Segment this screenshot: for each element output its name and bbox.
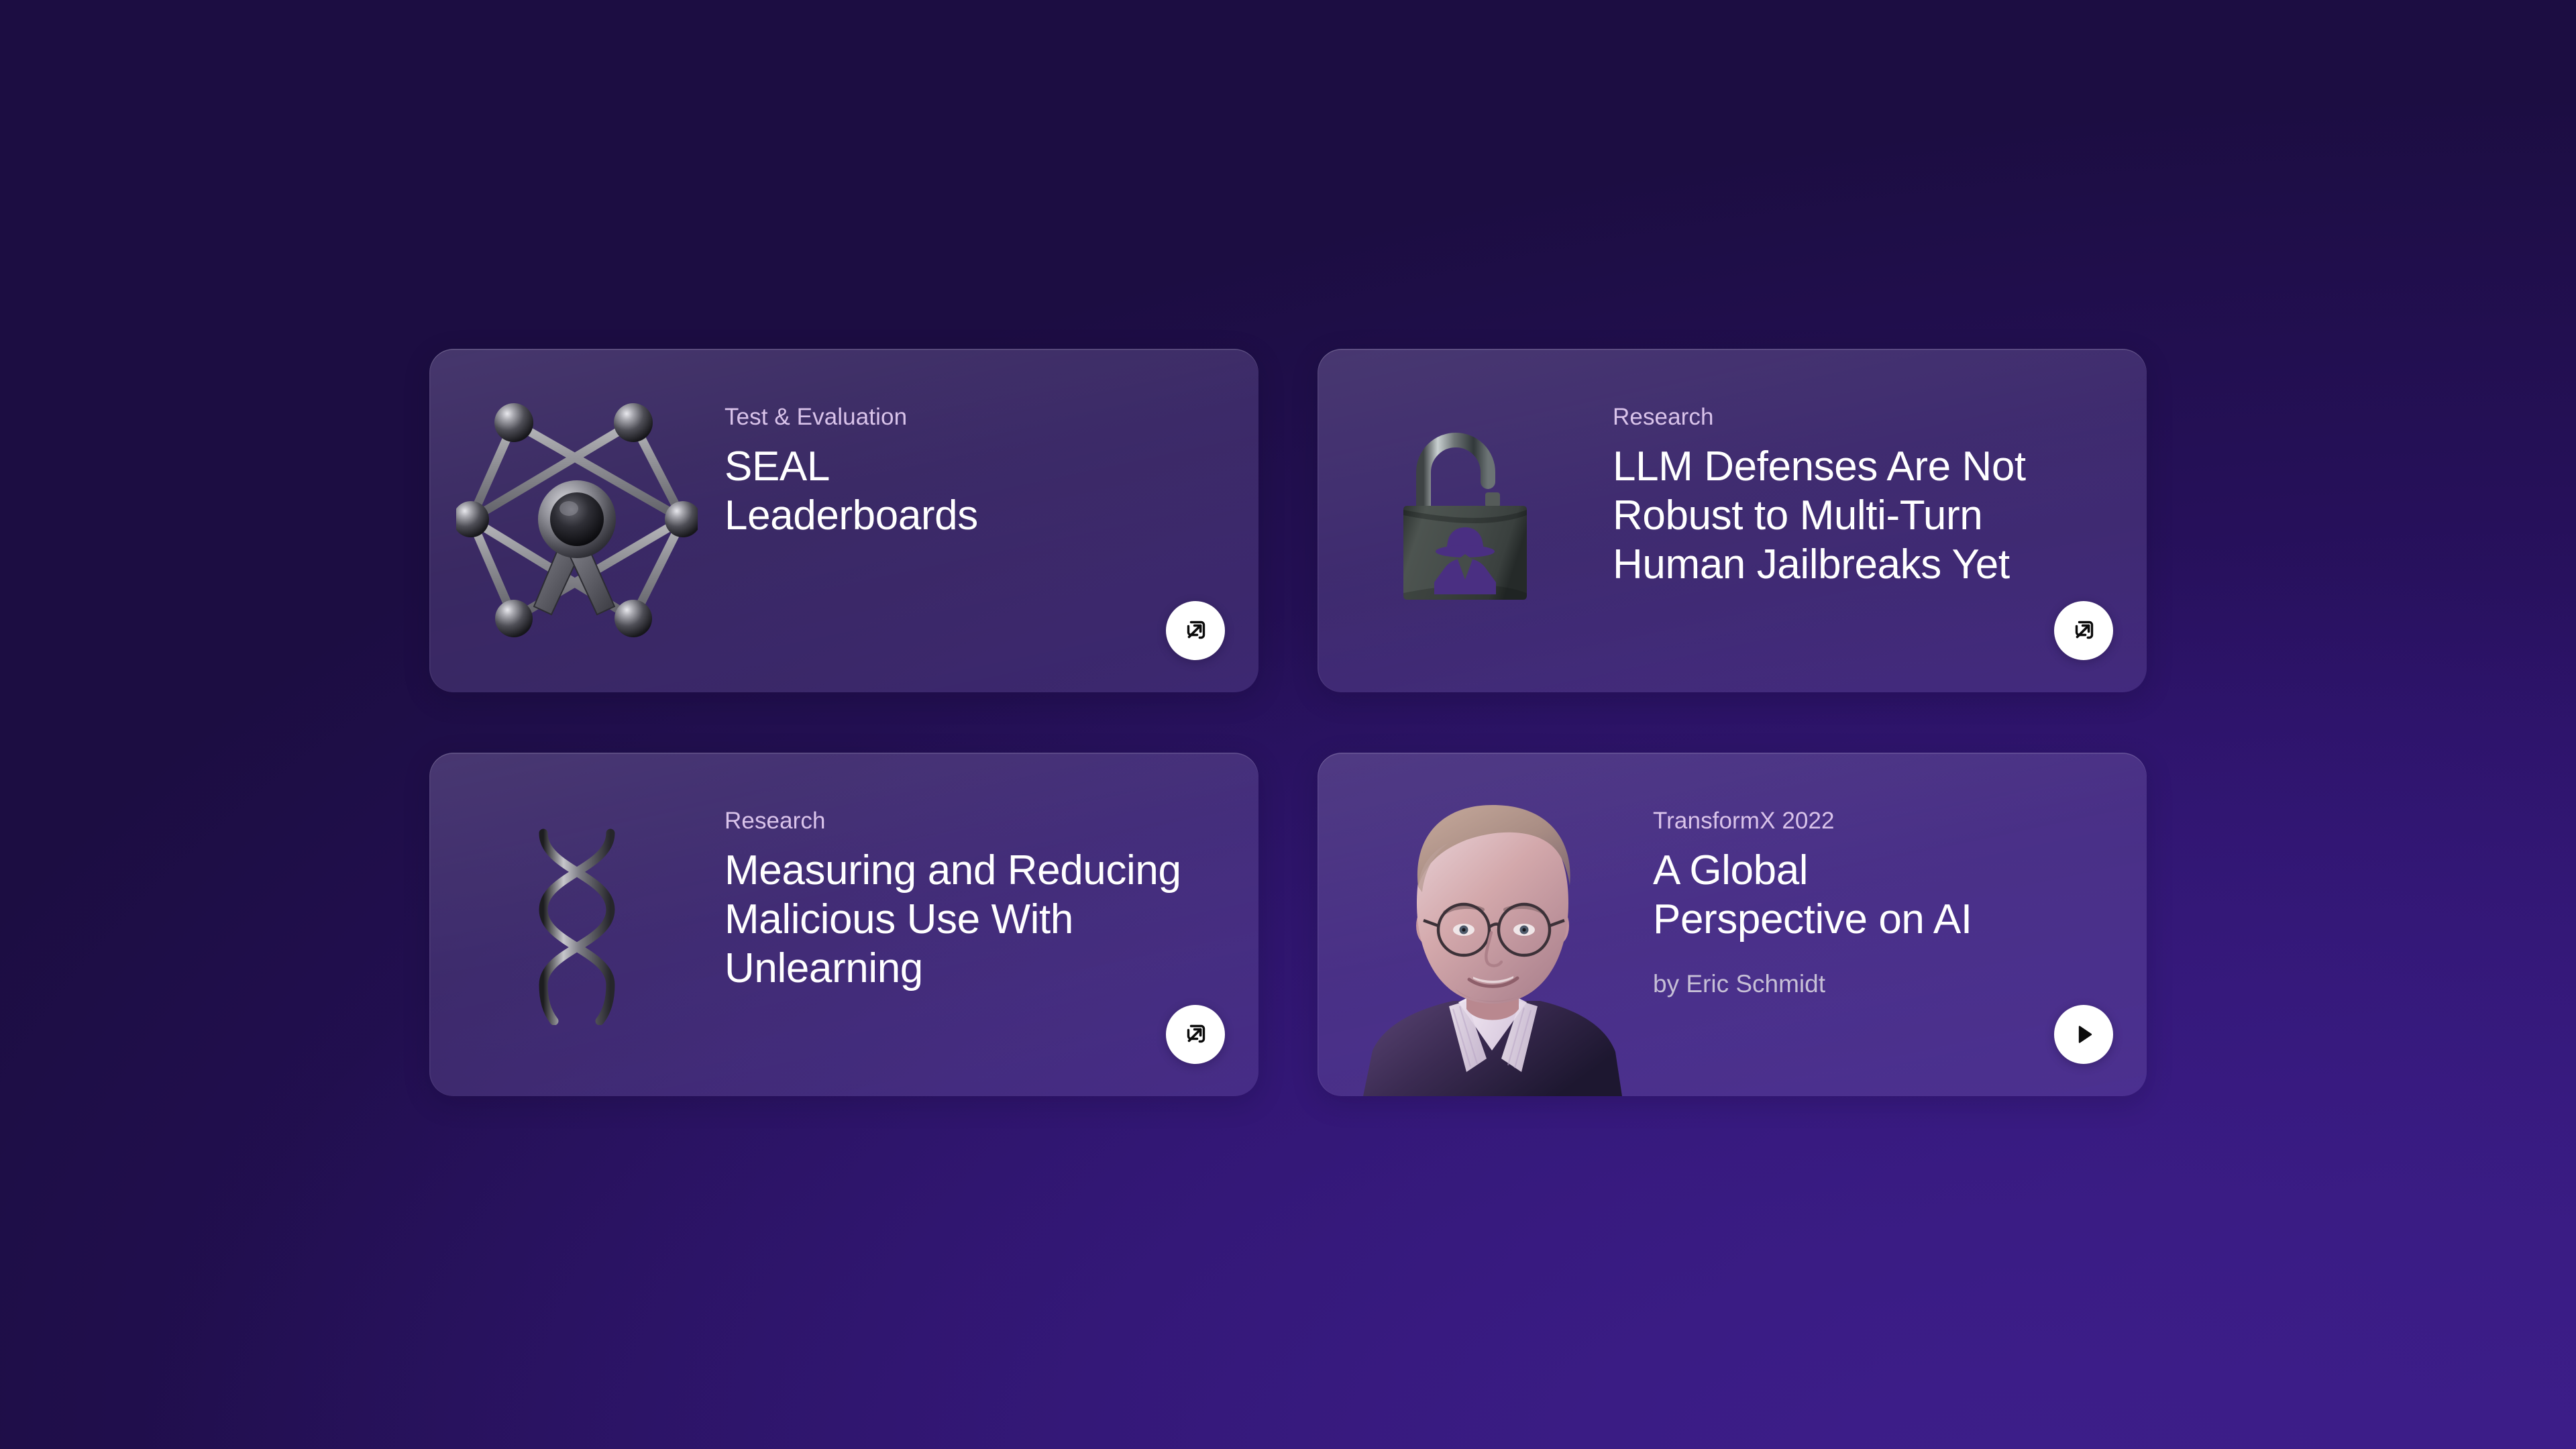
card-title-line: SEAL bbox=[724, 443, 830, 490]
card-eyebrow: Test & Evaluation bbox=[724, 405, 907, 429]
card-llm-defenses[interactable]: Research LLM Defenses Are Not Robust to … bbox=[1318, 349, 2147, 692]
card-byline: by Eric Schmidt bbox=[1653, 971, 1825, 998]
card-eyebrow: Research bbox=[724, 809, 826, 833]
card-media bbox=[1318, 349, 1613, 692]
card-eyebrow: TransformX 2022 bbox=[1653, 809, 1835, 833]
card-title: SEAL Leaderboards bbox=[724, 442, 978, 540]
card-media bbox=[429, 349, 724, 692]
card-title-line: Malicious Use With bbox=[724, 896, 1073, 943]
card-title-line: Human Jailbreaks Yet bbox=[1613, 541, 2010, 588]
card-global-perspective-ai[interactable]: TransformX 2022 A Global Perspective on … bbox=[1318, 753, 2147, 1096]
card-title-line: Measuring and Reducing bbox=[724, 847, 1181, 894]
card-title: Measuring and Reducing Malicious Use Wit… bbox=[724, 846, 1181, 993]
card-title-line: LLM Defenses Are Not bbox=[1613, 443, 2026, 490]
card-media bbox=[429, 753, 724, 1096]
card-media bbox=[1318, 753, 1653, 1096]
external-link-button[interactable] bbox=[1166, 1005, 1225, 1064]
play-button[interactable] bbox=[2054, 1005, 2113, 1064]
network-medal-icon bbox=[456, 393, 698, 648]
speaker-portrait bbox=[1348, 788, 1637, 1096]
card-title-line: A Global bbox=[1653, 847, 1808, 894]
card-malicious-use-unlearning[interactable]: Research Measuring and Reducing Maliciou… bbox=[429, 753, 1258, 1096]
card-seal-leaderboards[interactable]: Test & Evaluation SEAL Leaderboards bbox=[429, 349, 1258, 692]
card-title: LLM Defenses Are Not Robust to Multi-Tur… bbox=[1613, 442, 2026, 589]
external-link-button[interactable] bbox=[2054, 601, 2113, 660]
card-title-line: Robust to Multi-Turn bbox=[1613, 492, 1982, 539]
card-title-line: Perspective on AI bbox=[1653, 896, 1972, 943]
card-title-line: Leaderboards bbox=[724, 492, 978, 539]
dna-helix-icon bbox=[523, 824, 631, 1025]
external-link-icon bbox=[1182, 1021, 1209, 1048]
card-title: A Global Perspective on AI bbox=[1653, 846, 1972, 944]
external-link-icon bbox=[2070, 617, 2097, 644]
open-padlock-spy-icon bbox=[1385, 420, 1546, 621]
external-link-button[interactable] bbox=[1166, 601, 1225, 660]
play-icon bbox=[2070, 1021, 2097, 1048]
external-link-icon bbox=[1182, 617, 1209, 644]
card-eyebrow: Research bbox=[1613, 405, 1714, 429]
card-title-line: Unlearning bbox=[724, 945, 923, 991]
featured-cards-grid: Test & Evaluation SEAL Leaderboards bbox=[429, 349, 2147, 1096]
